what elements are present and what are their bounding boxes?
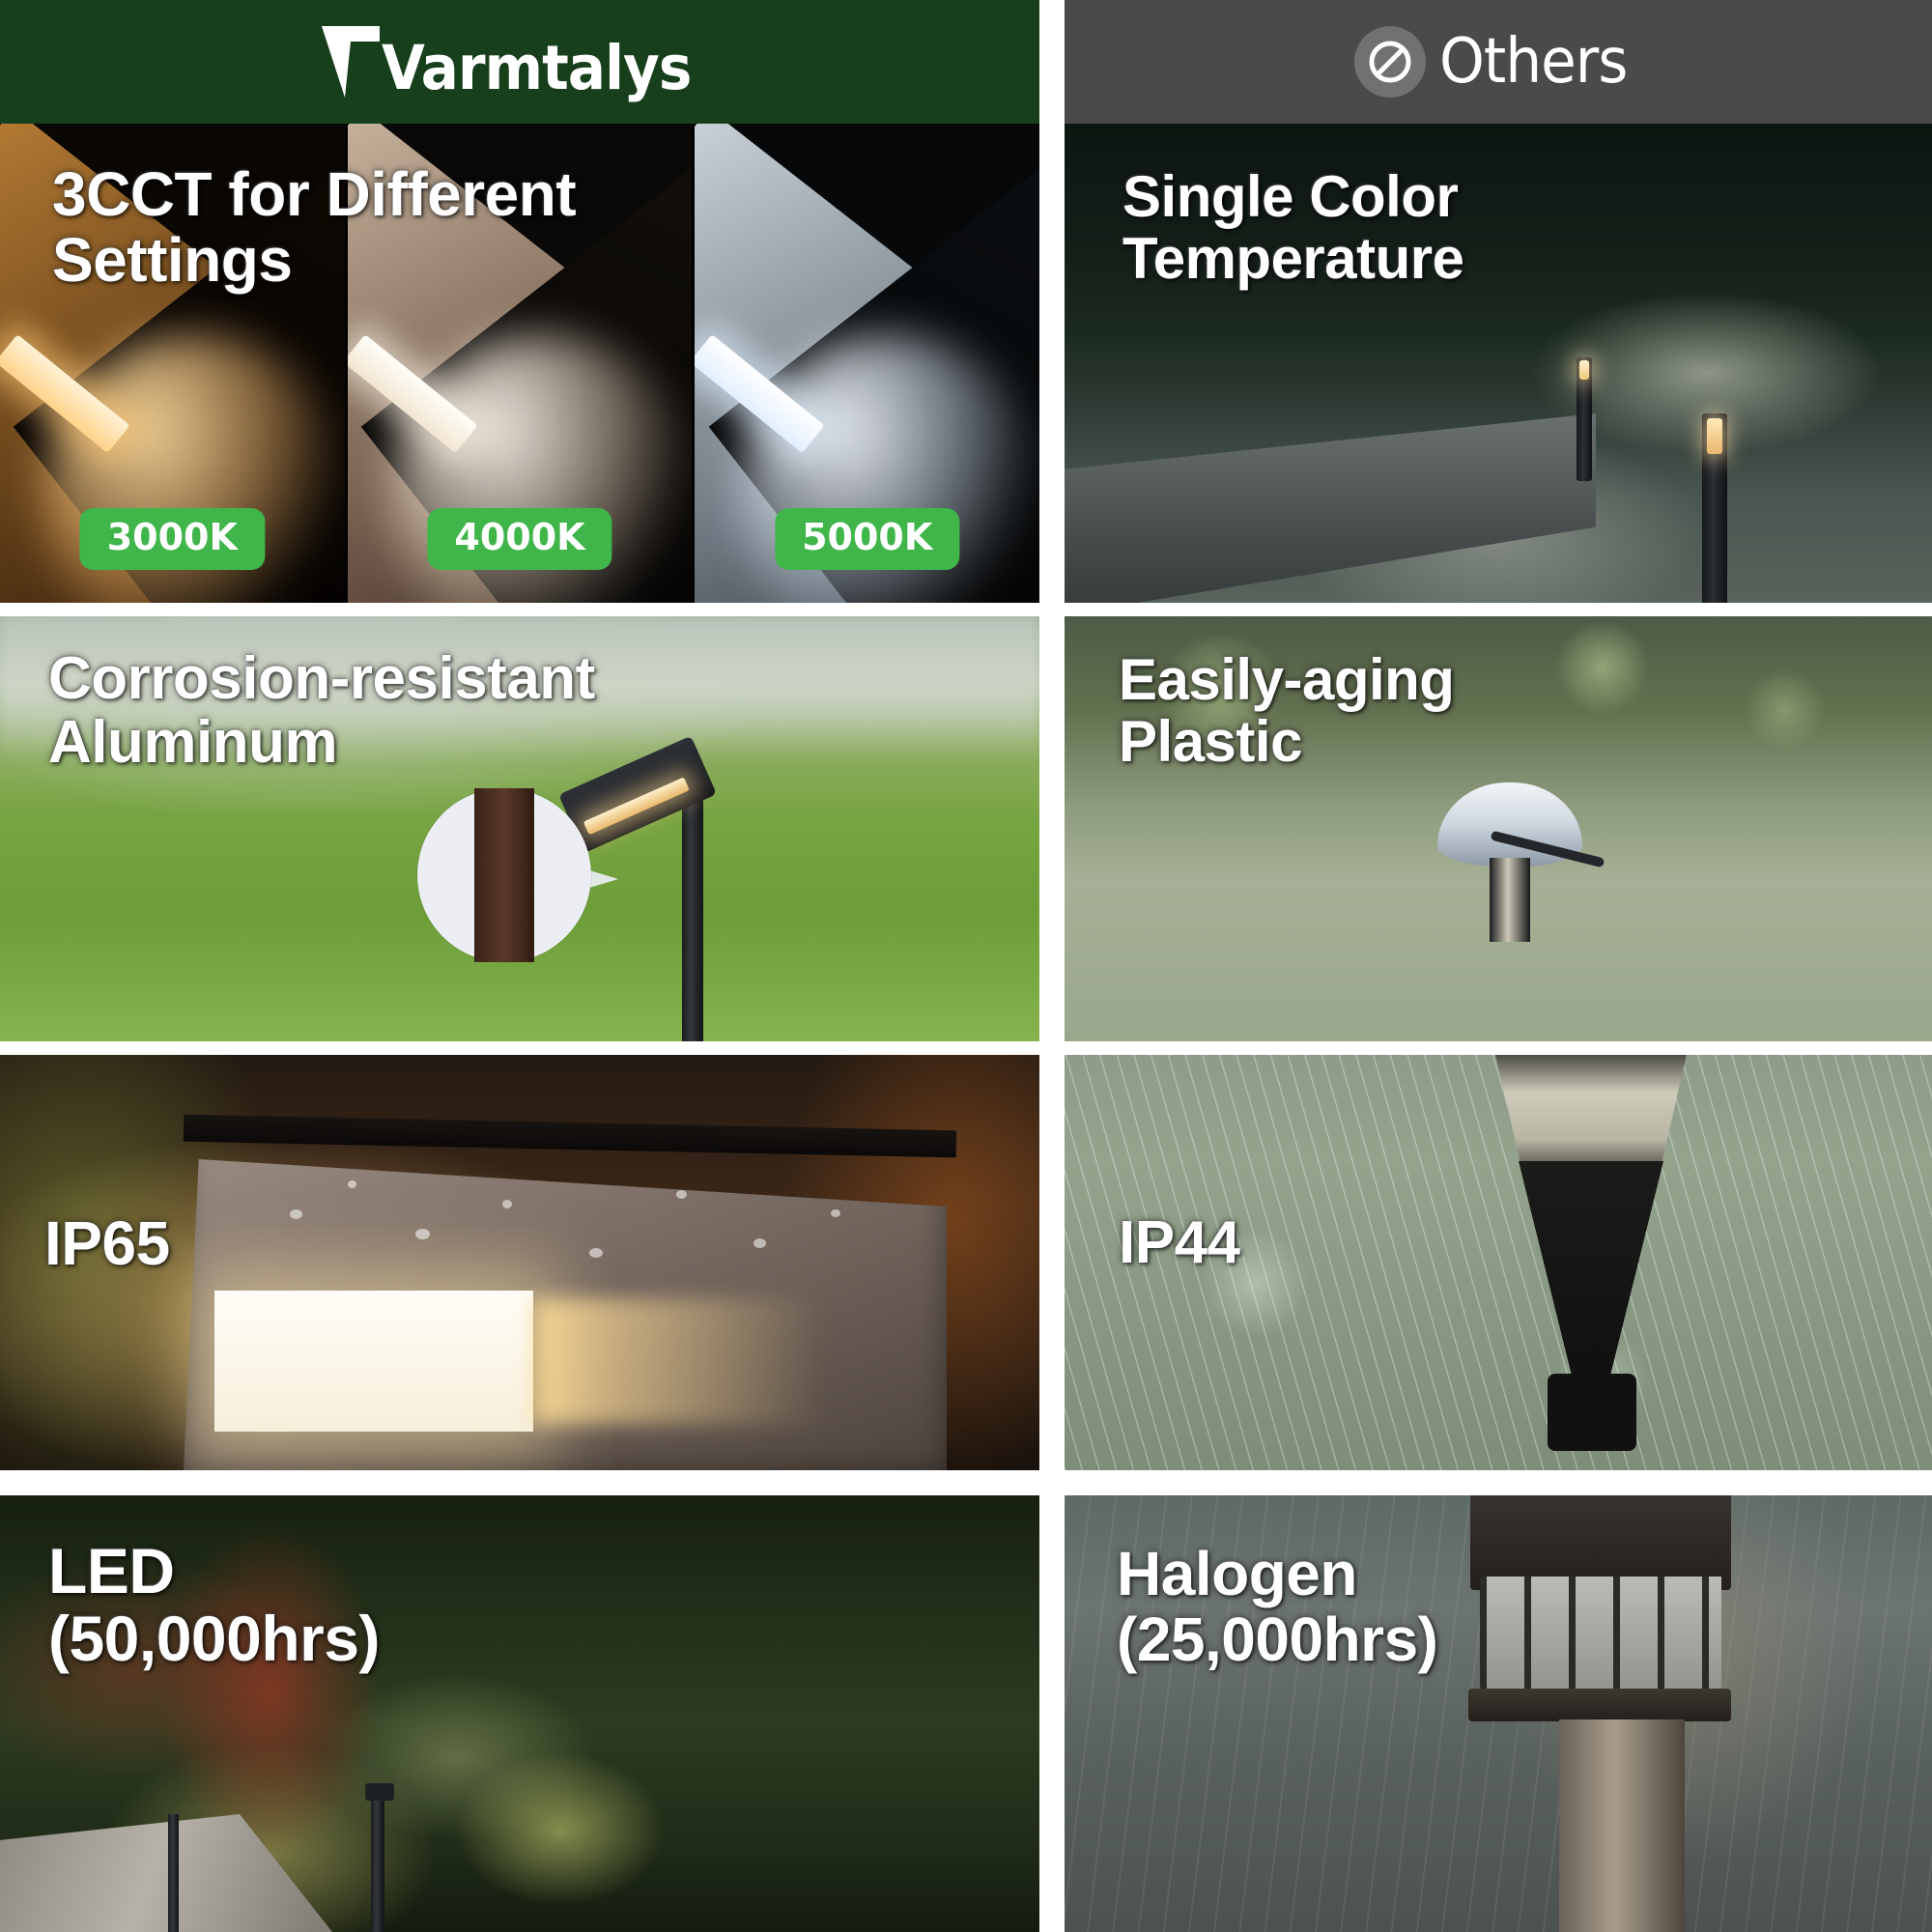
caption-led-lifespan: LED (50,000hrs) [48,1538,380,1673]
varmtalys-logo: Varmtalys [322,26,718,98]
cell-halogen-right: Halogen (25,000hrs) [1065,1495,1932,1932]
brand-header: Varmtalys [0,0,1039,124]
caption-3cct: 3CCT for Different Settings [52,162,576,294]
led-bollard-near [371,1791,384,1932]
prohibition-no-icon [1354,26,1426,98]
bollard-light-far [1577,357,1592,481]
brand-name: Varmtalys [382,40,691,98]
caption-single-color-temperature: Single Color Temperature [1122,166,1464,289]
cell-single-cct-right: Single Color Temperature [1065,124,1932,603]
bollard-light-near [1702,413,1727,603]
led-bollard-far [168,1814,179,1932]
caption-easily-aging-plastic: Easily-aging Plastic [1119,649,1454,772]
cell-cct-left: 3000K 4000K 5000K 3CCT for Different Set… [0,124,1039,603]
others-header: Others [1065,0,1932,124]
badge-3000k: 3000K [80,508,265,570]
caption-ip44: IP44 [1119,1211,1240,1275]
caption-halogen-lifespan: Halogen (25,000hrs) [1117,1542,1437,1673]
caption-ip65: IP65 [44,1211,170,1277]
aluminum-light-post [682,771,703,1041]
badge-5000k: 5000K [775,508,959,570]
varmtalys-v-logo-icon [322,26,380,98]
badge-4000k: 4000K [427,508,611,570]
cell-ip44-right: IP44 [1065,1055,1932,1470]
cell-led-left: LED (50,000hrs) [0,1495,1039,1932]
material-zoom-lens [417,788,591,962]
comparison-infographic: Varmtalys Others 3000K [0,0,1932,1932]
others-label: Others [1439,26,1627,98]
cell-plastic-right: Easily-aging Plastic [1065,616,1932,1041]
cct-panel-5000k: 5000K [695,124,1039,603]
cell-aluminum-left: Corrosion-resistant Aluminum [0,616,1039,1041]
cell-ip65-left: IP65 [0,1055,1039,1470]
caption-corrosion-resistant-aluminum: Corrosion-resistant Aluminum [48,647,595,774]
